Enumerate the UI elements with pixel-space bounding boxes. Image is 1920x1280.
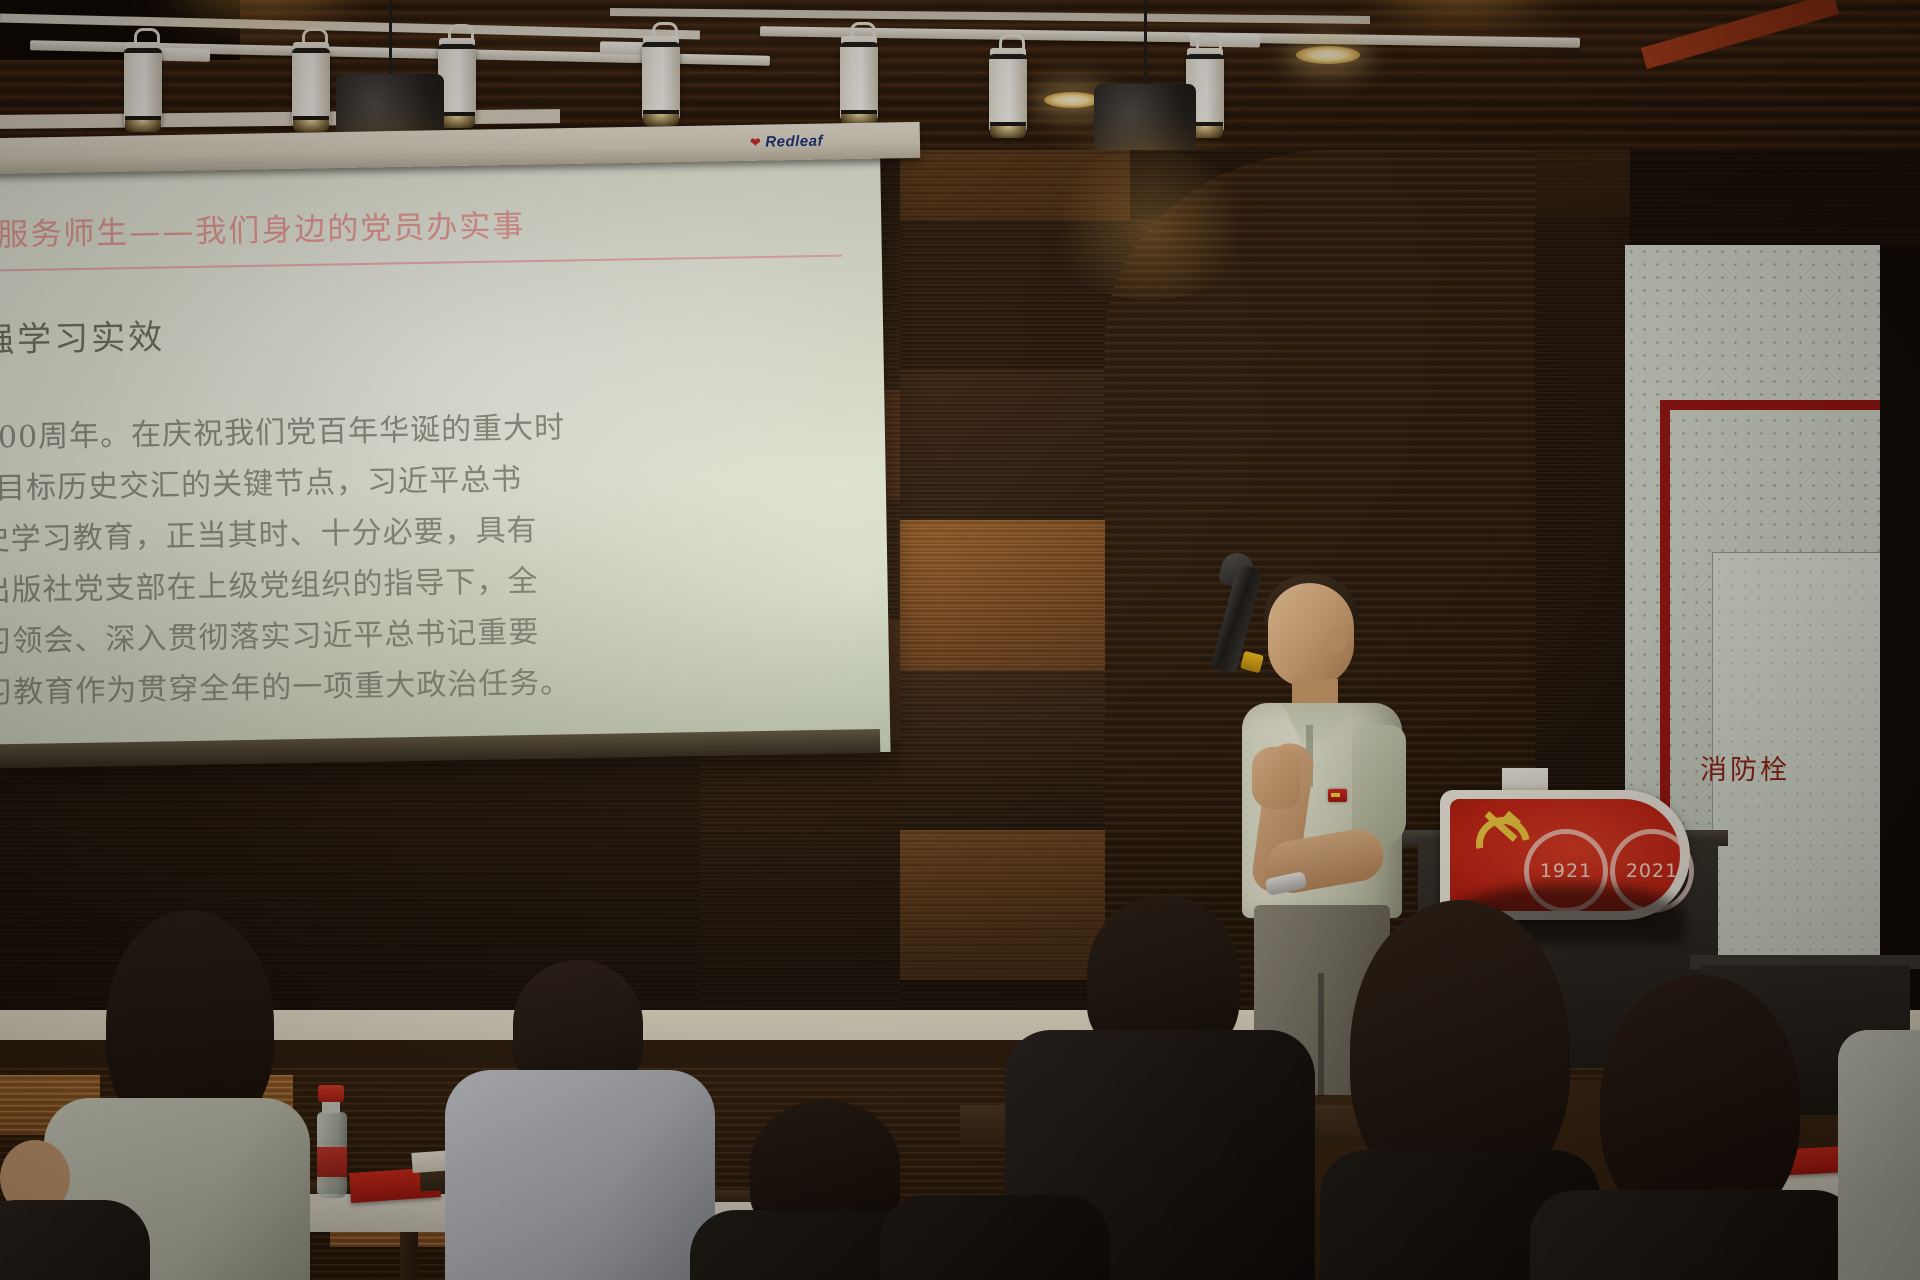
party-pin-badge	[1328, 789, 1347, 802]
pendant-lamp-top-right	[1392, 0, 1532, 8]
speaker-hand	[1252, 747, 1300, 809]
right-wall-shadow-strip	[1880, 245, 1920, 1025]
emblem-year-start: 1921	[1540, 860, 1592, 882]
speaker-sleeve	[1352, 725, 1406, 845]
audience-hair	[513, 960, 643, 1088]
projection-screen: 谋，服务师生——我们身边的党员办实事 增强学习实效 党成立100周年。在庆祝我们…	[0, 142, 891, 768]
screen-vignette	[0, 142, 891, 768]
pendant-lamp-top-left	[186, 0, 336, 10]
lecture-hall-photo: ❤Redleaf 谋，服务师生——我们身边的党员办实事 增强学习实效 党成立10…	[0, 0, 1920, 1280]
brand-label: Redleaf	[765, 133, 823, 151]
projector-brand: ❤Redleaf	[750, 133, 823, 151]
audience-member-2	[0, 1130, 200, 1280]
audience-torso	[0, 1200, 150, 1280]
speaker-ear	[1326, 627, 1346, 653]
audience-member-7	[1530, 975, 1860, 1280]
audience-member-3	[445, 960, 715, 1280]
fire-hydrant-label: 消防栓	[1700, 748, 1790, 787]
audience-member-8	[1838, 1030, 1920, 1280]
audience-torso	[880, 1195, 1110, 1280]
recessed-downlight-2	[1296, 46, 1360, 64]
heart-icon: ❤	[750, 135, 762, 150]
audience-torso	[1838, 1030, 1920, 1280]
emblem-year-end: 2021	[1626, 860, 1678, 882]
table-leg	[400, 1232, 418, 1280]
microphone-tip	[1240, 651, 1264, 674]
audience-member-9	[880, 1195, 1110, 1280]
audience-torso	[445, 1070, 715, 1280]
audience-torso	[1530, 1190, 1860, 1280]
